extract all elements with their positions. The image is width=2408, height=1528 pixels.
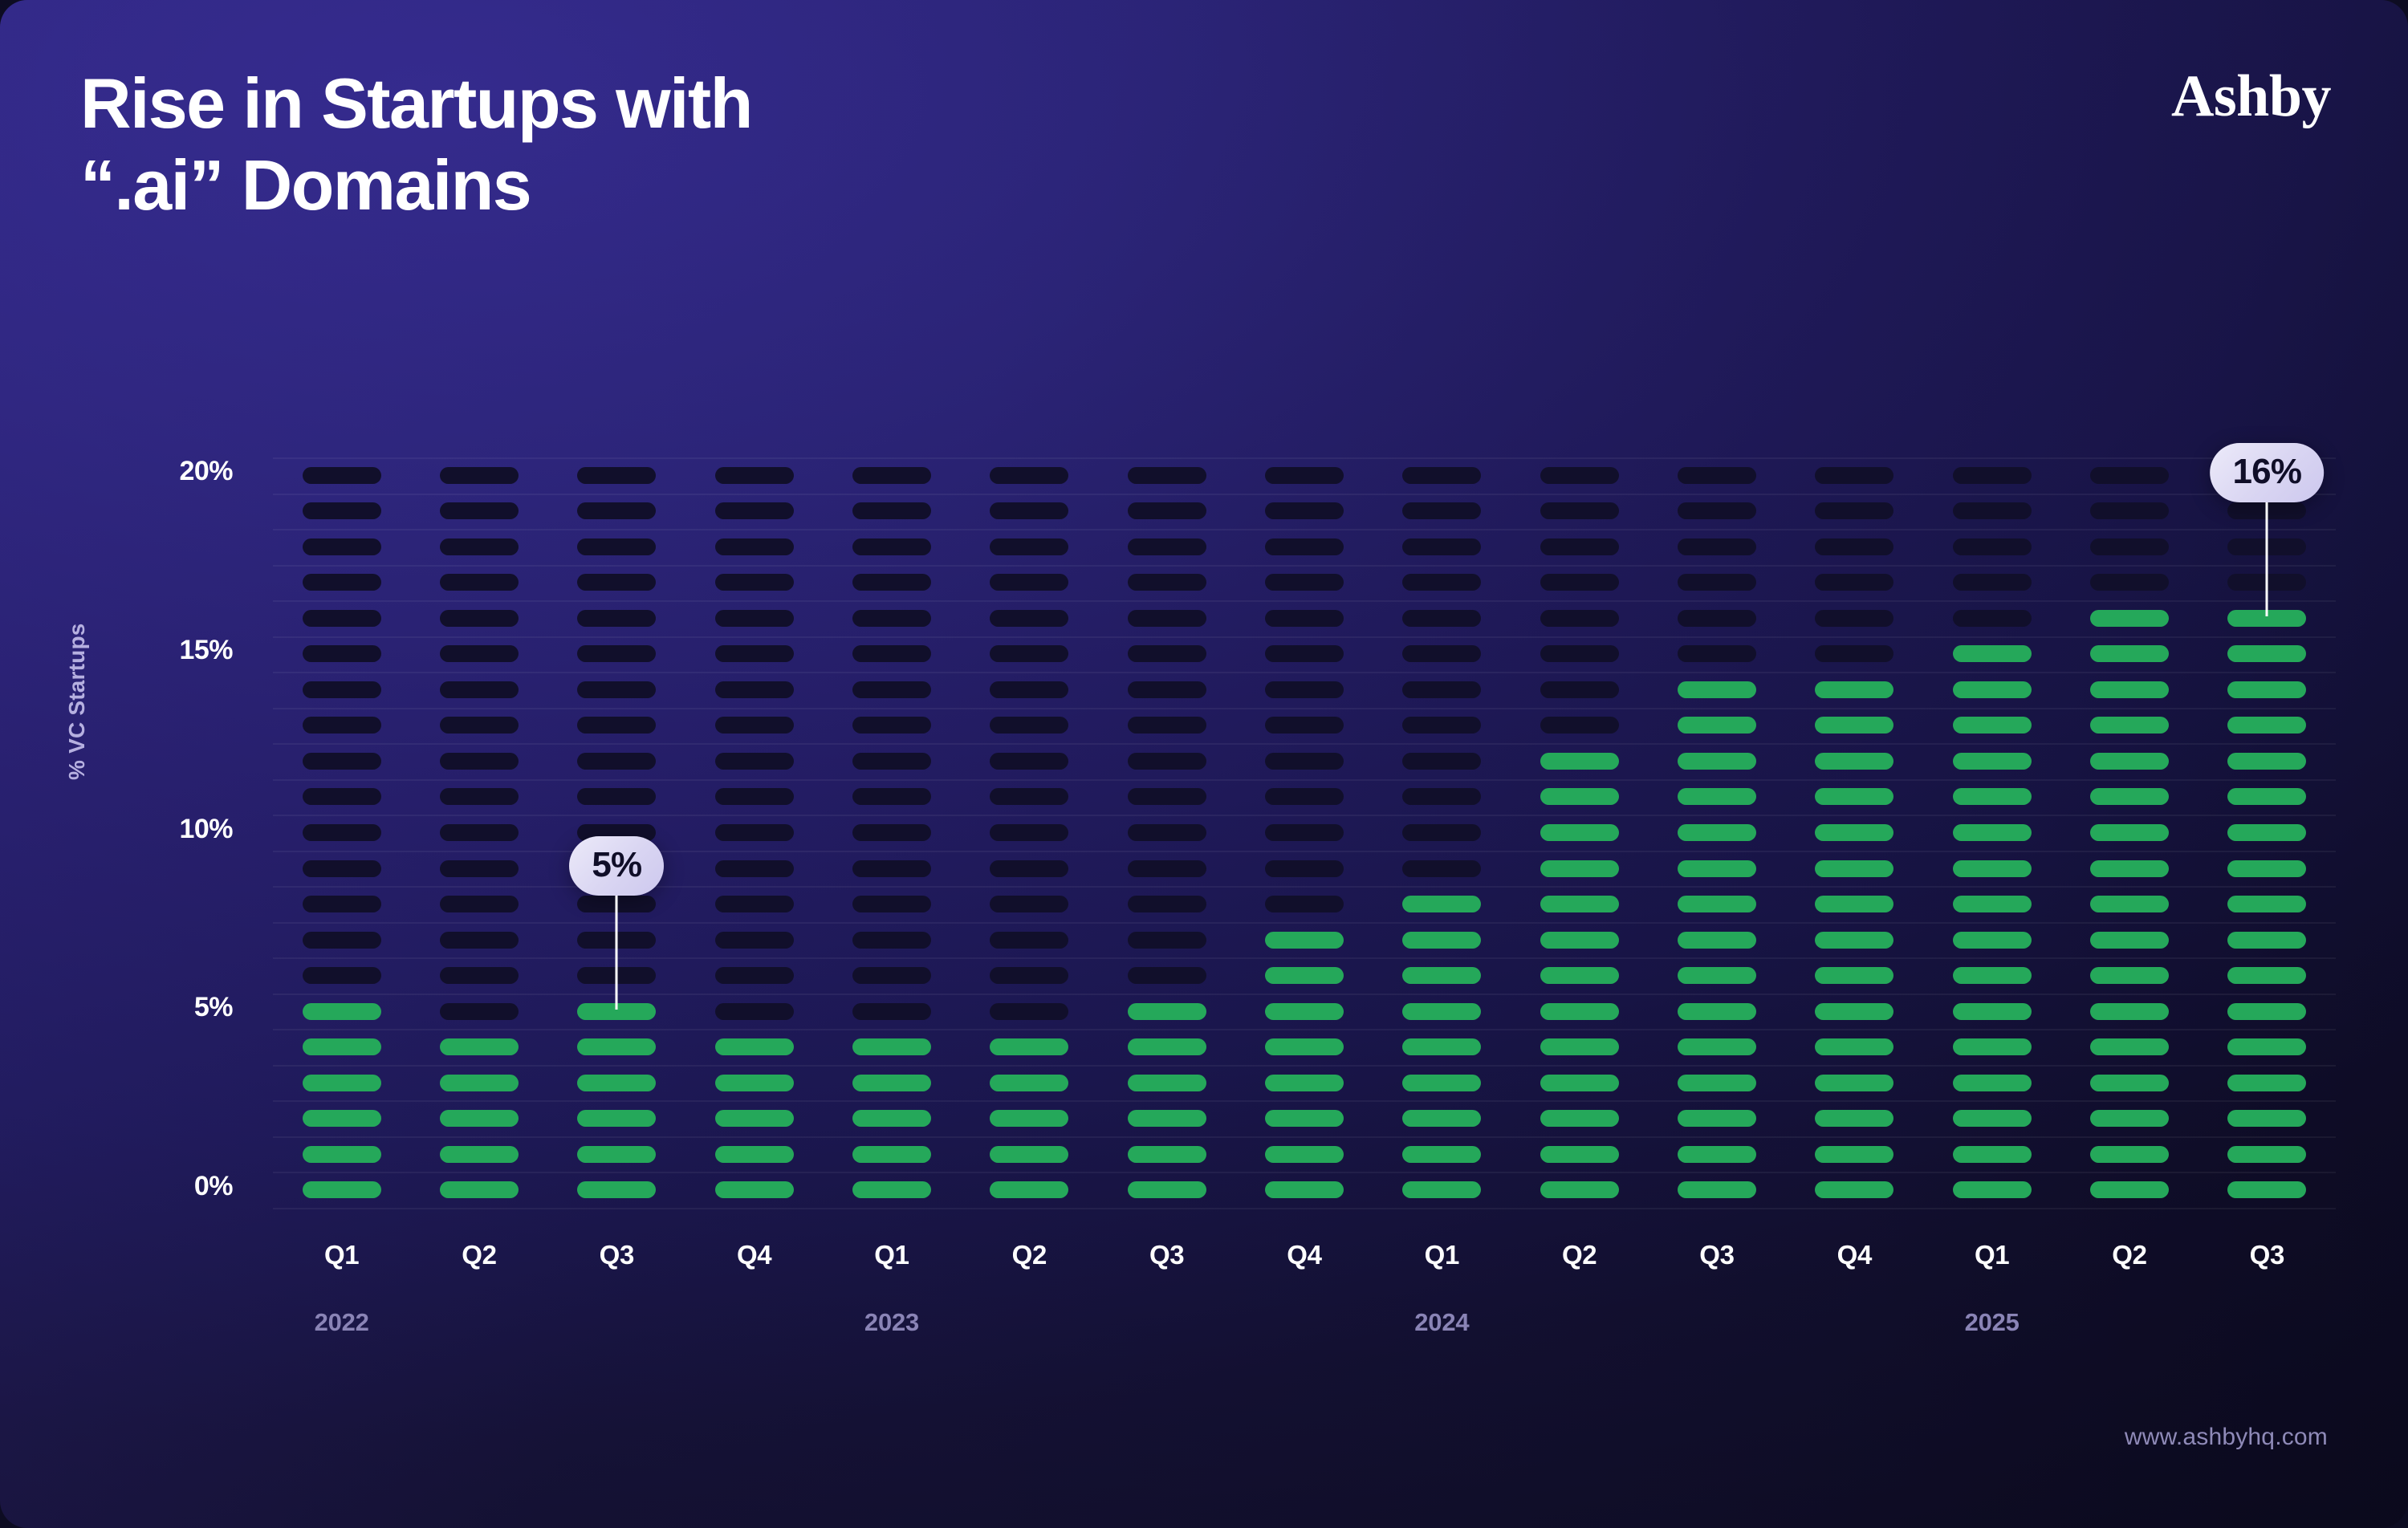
bar-segment-filled [1402,896,1481,912]
bar-segment-empty [1678,645,1756,662]
bar-segment-empty [440,681,519,698]
bar-segment-filled [2227,824,2306,841]
bar-segment-filled [303,1181,381,1198]
bar-segment-filled [303,1038,381,1055]
bar-segment-empty [990,824,1068,841]
bar-segment-empty [1402,645,1481,662]
bar-segment-filled [2227,1181,2306,1198]
bar-segment-empty [1953,467,2032,484]
bar-segment-empty [303,860,381,877]
bar-segment-empty [303,932,381,949]
x-axis-year-label: 2022 [286,1308,398,1337]
bar-segment-empty [1128,967,1206,984]
bar-segment-empty [715,753,794,770]
bar-segment-empty [990,467,1068,484]
bar-segment-empty [990,1003,1068,1020]
bar-segment-filled [1678,1038,1756,1055]
bar-segment-empty [1265,824,1344,841]
bar-segment-empty [1128,538,1206,555]
bar-segment-filled [1265,1146,1344,1163]
bar-segment-filled [1678,681,1756,698]
bar-segment-empty [303,538,381,555]
bar-segment-filled [303,1003,381,1020]
bar-segment-filled [1953,1075,2032,1091]
bar-column[interactable] [1265,457,1344,1208]
bar-segment-empty [1402,824,1481,841]
bar-segment-empty [1402,860,1481,877]
bar-segment-filled [2227,1003,2306,1020]
bar-segment-empty [852,610,931,627]
bar-segment-empty [303,967,381,984]
bar-segment-empty [1540,502,1619,519]
bar-segment-filled [1128,1075,1206,1091]
bar-segment-empty [1402,467,1481,484]
bar-segment-filled [1265,1110,1344,1127]
bar-segment-filled [1953,932,2032,949]
bar-segment-empty [303,824,381,841]
bar-column[interactable] [1540,457,1619,1208]
bar-segment-filled [990,1038,1068,1055]
bar-segment-filled [1953,645,2032,662]
bar-segment-filled [2090,860,2169,877]
bar-segment-empty [1128,860,1206,877]
bar-segment-filled [2090,824,2169,841]
bar-segment-empty [1402,681,1481,698]
bar-segment-filled [1953,717,2032,734]
bar-column[interactable] [1402,457,1481,1208]
x-axis-year-label: 2025 [1936,1308,2048,1337]
x-axis-year-label: 2024 [1385,1308,1498,1337]
bar-segment-filled [1540,967,1619,984]
x-axis-quarter-label: Q2 [423,1240,535,1270]
bar-segment-empty [303,753,381,770]
bar-segment-filled [1678,1181,1756,1198]
bar-segment-filled [715,1181,794,1198]
infographic-card: Rise in Startups with “.ai” Domains Ashb… [0,0,2408,1528]
bar-segment-empty [577,717,656,734]
y-axis-tick: 15% [0,635,233,666]
bar-segment-empty [1678,610,1756,627]
title-line-2: “.ai” Domains [80,144,1284,226]
bar-segment-filled [1678,896,1756,912]
bar-segment-empty [990,610,1068,627]
bar-segment-empty [303,574,381,591]
bar-segment-empty [1265,574,1344,591]
bar-segment-empty [990,502,1068,519]
bar-segment-filled [1540,860,1619,877]
y-axis-tick: 5% [0,992,233,1023]
bar-segment-empty [852,860,931,877]
bar-segment-filled [1815,824,1893,841]
bar-segment-empty [715,717,794,734]
bar-segment-empty [1678,467,1756,484]
bar-segment-filled [1678,1003,1756,1020]
bar-segment-filled [1402,967,1481,984]
bar-segment-filled [1953,824,2032,841]
bar-segment-filled [1540,932,1619,949]
bar-segment-filled [1402,1038,1481,1055]
bar-segment-empty [990,681,1068,698]
bar-segment-empty [303,717,381,734]
x-axis-quarter-label: Q3 [1661,1240,1773,1270]
bar-segment-empty [440,574,519,591]
bar-segment-empty [1402,788,1481,805]
bar-segment-filled [2090,1110,2169,1127]
bar-segment-filled [440,1038,519,1055]
bar-segment-empty [990,932,1068,949]
bar-segment-empty [1265,467,1344,484]
bar-segment-empty [990,717,1068,734]
bar-segment-filled [1265,1003,1344,1020]
bar-segment-empty [990,538,1068,555]
bar-segment-empty [1540,467,1619,484]
bar-segment-filled [715,1075,794,1091]
bar-segment-filled [715,1146,794,1163]
bar-segment-empty [990,753,1068,770]
bar-segment-empty [1678,502,1756,519]
bar-column[interactable] [715,457,794,1208]
bar-segment-filled [1540,824,1619,841]
bar-segment-empty [1815,645,1893,662]
bar-segment-empty [990,896,1068,912]
bar-segment-empty [440,502,519,519]
bar-segment-empty [852,467,931,484]
bar-segment-empty [1128,681,1206,698]
bar-segment-empty [1128,502,1206,519]
bar-segment-empty [852,681,931,698]
bar-segment-empty [1128,896,1206,912]
bar-segment-filled [1953,1146,2032,1163]
gridline [273,1208,2336,1209]
bar-segment-empty [577,502,656,519]
bar-segment-empty [577,574,656,591]
bar-segment-filled [2227,860,2306,877]
bar-segment-empty [852,574,931,591]
bar-segment-empty [1815,538,1893,555]
bar-segment-filled [1540,1110,1619,1127]
bar-segment-empty [1265,788,1344,805]
bar-segment-empty [1128,824,1206,841]
bar-segment-empty [1402,574,1481,591]
bar-segment-filled [1540,1075,1619,1091]
bar-segment-filled [1815,1003,1893,1020]
bar-segment-empty [1265,610,1344,627]
bar-segment-filled [2227,967,2306,984]
bar-segment-empty [303,467,381,484]
bar-segment-empty [715,681,794,698]
bar-segment-filled [1953,896,2032,912]
bar-segment-filled [1678,717,1756,734]
bar-segment-empty [1128,788,1206,805]
bar-segment-filled [2090,1181,2169,1198]
bar-segment-empty [1128,610,1206,627]
bar-segment-filled [1815,896,1893,912]
bar-segment-empty [1265,681,1344,698]
bar-segment-empty [303,610,381,627]
bar-segment-empty [1265,860,1344,877]
bar-segment-filled [2227,753,2306,770]
bar-segment-filled [1265,1038,1344,1055]
bar-segment-filled [2227,681,2306,698]
bar-segment-filled [1953,1003,2032,1020]
bar-segment-empty [1953,502,2032,519]
bar-segment-filled [1540,1146,1619,1163]
bar-segment-empty [1128,717,1206,734]
bar-segment-filled [852,1181,931,1198]
bar-segment-filled [1953,1110,2032,1127]
bar-segment-filled [303,1146,381,1163]
x-axis-quarter-label: Q3 [2211,1240,2323,1270]
bar-segment-filled [1540,788,1619,805]
x-axis-quarter-label: Q4 [698,1240,811,1270]
bar-segment-empty [852,502,931,519]
bar-segment-filled [2227,896,2306,912]
bar-segment-filled [303,1075,381,1091]
bar-segment-filled [1128,1146,1206,1163]
bar-segment-empty [852,753,931,770]
bar-column[interactable] [852,457,931,1208]
bar-segment-filled [1678,753,1756,770]
bar-segment-empty [303,645,381,662]
x-axis-quarter-label: Q2 [1523,1240,1636,1270]
bar-segment-filled [577,1110,656,1127]
bar-segment-empty [1540,610,1619,627]
bar-column[interactable] [1678,457,1756,1208]
bar-column[interactable] [1128,457,1206,1208]
bar-segment-filled [1540,753,1619,770]
bar-segment-filled [2227,717,2306,734]
bar-segment-empty [990,788,1068,805]
bar-segment-empty [1128,467,1206,484]
bar-segment-filled [1128,1181,1206,1198]
bar-segment-empty [1678,574,1756,591]
bar-segment-empty [1128,645,1206,662]
bar-segment-empty [1953,574,2032,591]
y-axis-tick: 0% [0,1171,233,1202]
bar-segment-filled [2090,1003,2169,1020]
callout-stem [616,896,618,1010]
bar-segment-empty [440,753,519,770]
bar-segment-empty [1678,538,1756,555]
bar-segment-filled [1678,788,1756,805]
bar-segment-filled [577,1038,656,1055]
callout-stem [2266,502,2268,616]
bar-segment-filled [2227,1146,2306,1163]
bar-segment-filled [715,1038,794,1055]
bar-segment-filled [1953,1181,2032,1198]
bar-segment-empty [1402,717,1481,734]
bar-segment-filled [2090,681,2169,698]
bar-segment-empty [1953,538,2032,555]
bar-column[interactable] [303,457,381,1208]
bar-segment-filled [1815,753,1893,770]
bar-segment-filled [1402,1146,1481,1163]
bar-segment-empty [715,645,794,662]
bar-segment-filled [577,1181,656,1198]
bar-segment-filled [1128,1003,1206,1020]
bar-segment-filled [990,1181,1068,1198]
bar-segment-filled [1265,932,1344,949]
bar-segment-filled [1815,1146,1893,1163]
y-axis-tick: 20% [0,456,233,487]
bar-segment-empty [715,788,794,805]
bar-segment-empty [1265,645,1344,662]
bar-segment-empty [1815,467,1893,484]
x-axis-quarter-label: Q2 [973,1240,1085,1270]
bar-segment-empty [1402,502,1481,519]
bar-segment-filled [1678,824,1756,841]
bar-segment-filled [2090,967,2169,984]
bar-segment-filled [1402,1110,1481,1127]
bar-segment-empty [852,896,931,912]
bar-segment-filled [2090,788,2169,805]
bar-segment-empty [852,824,931,841]
x-axis-quarter-label: Q1 [286,1240,398,1270]
x-axis-quarter-label: Q4 [1798,1240,1910,1270]
bar-segment-empty [577,788,656,805]
bar-segment-empty [852,538,931,555]
bar-column[interactable] [1815,457,1893,1208]
bar-segment-empty [1128,753,1206,770]
bar-segment-filled [1953,753,2032,770]
bar-segment-empty [577,681,656,698]
bar-segment-filled [1953,967,2032,984]
bar-segment-empty [1128,932,1206,949]
bar-segment-empty [715,574,794,591]
bar-column[interactable] [577,457,656,1208]
bar-segment-filled [2090,932,2169,949]
bar-segment-filled [1402,1075,1481,1091]
bar-segment-filled [1678,967,1756,984]
x-axis-quarter-label: Q1 [1385,1240,1498,1270]
bar-segment-filled [1540,1003,1619,1020]
bar-segment-filled [1540,896,1619,912]
bar-segment-filled [852,1146,931,1163]
bar-column[interactable] [1953,457,2032,1208]
bar-segment-empty [440,467,519,484]
bar-segment-empty [1265,538,1344,555]
bar-segment-empty [852,1003,931,1020]
bar-segment-empty [1540,645,1619,662]
bar-segment-empty [303,681,381,698]
bar-segment-filled [990,1146,1068,1163]
bar-segment-filled [990,1110,1068,1127]
bar-segment-empty [1815,502,1893,519]
bar-segment-empty [577,645,656,662]
bar-segment-filled [440,1110,519,1127]
bar-segment-empty [1265,717,1344,734]
bar-segment-filled [440,1146,519,1163]
callout-bubble: 16% [2210,443,2324,502]
bar-segment-empty [440,717,519,734]
bar-segment-filled [1815,788,1893,805]
bar-segment-filled [1265,1075,1344,1091]
value-callout: 16% [2146,443,2387,627]
title-line-1: Rise in Startups with [80,63,1284,144]
bar-segment-filled [1953,1038,2032,1055]
bar-segment-filled [577,1146,656,1163]
bar-segment-empty [577,538,656,555]
bar-segment-empty [1815,574,1893,591]
bar-segment-empty [1128,574,1206,591]
bar-segment-filled [1815,1038,1893,1055]
bar-segment-filled [1953,788,2032,805]
bar-segment-empty [1265,502,1344,519]
bar-segment-filled [1128,1110,1206,1127]
bar-segment-empty [303,788,381,805]
y-axis-tick: 10% [0,814,233,845]
bar-segment-empty [715,538,794,555]
bar-segment-filled [1953,681,2032,698]
bar-segment-empty [1265,896,1344,912]
bar-segment-empty [577,467,656,484]
bar-segment-filled [1540,1038,1619,1055]
bar-segment-empty [1402,610,1481,627]
bar-segment-filled [1128,1038,1206,1055]
bar-segment-filled [2227,1110,2306,1127]
bar-segment-empty [990,967,1068,984]
x-axis-quarter-label: Q4 [1248,1240,1361,1270]
bar-segment-empty [852,788,931,805]
chart-plot-area [273,457,2336,1208]
bar-segment-filled [1402,1003,1481,1020]
bar-segment-empty [852,967,931,984]
bar-segment-filled [1402,1181,1481,1198]
bar-segment-empty [1540,717,1619,734]
x-axis-quarter-label: Q1 [1936,1240,2048,1270]
bar-segment-filled [852,1075,931,1091]
bar-segment-filled [1540,1181,1619,1198]
bar-column[interactable] [990,457,1068,1208]
bar-segment-empty [852,932,931,949]
bar-segment-empty [1402,538,1481,555]
x-axis-year-label: 2023 [836,1308,948,1337]
bar-segment-filled [1678,932,1756,949]
bar-segment-empty [1540,574,1619,591]
bar-segment-filled [1678,1110,1756,1127]
bar-column[interactable] [440,457,519,1208]
bar-segment-filled [1265,967,1344,984]
bar-segment-empty [440,538,519,555]
bar-segment-filled [2090,1038,2169,1055]
bar-segment-filled [440,1181,519,1198]
bar-segment-filled [2227,1075,2306,1091]
bar-segment-empty [990,860,1068,877]
bar-segment-filled [1678,860,1756,877]
bar-segment-filled [852,1038,931,1055]
bar-segment-filled [1815,1110,1893,1127]
bar-segment-filled [2227,932,2306,949]
bar-segment-filled [2090,753,2169,770]
bar-segment-empty [1540,538,1619,555]
bar-segment-empty [1265,753,1344,770]
bar-segment-empty [852,645,931,662]
bar-segment-empty [303,896,381,912]
bar-segment-filled [1953,860,2032,877]
bar-segment-filled [303,1110,381,1127]
bar-segment-filled [1815,1181,1893,1198]
bar-segment-filled [2090,1146,2169,1163]
bar-segment-filled [2227,645,2306,662]
bar-segment-filled [2227,788,2306,805]
value-callout: 5% [496,836,737,1020]
bar-segment-filled [1815,932,1893,949]
page-title: Rise in Startups with “.ai” Domains [80,63,1284,226]
bar-segment-filled [2090,896,2169,912]
bar-segment-filled [440,1075,519,1091]
x-axis-quarter-label: Q3 [1111,1240,1223,1270]
bar-segment-empty [303,502,381,519]
